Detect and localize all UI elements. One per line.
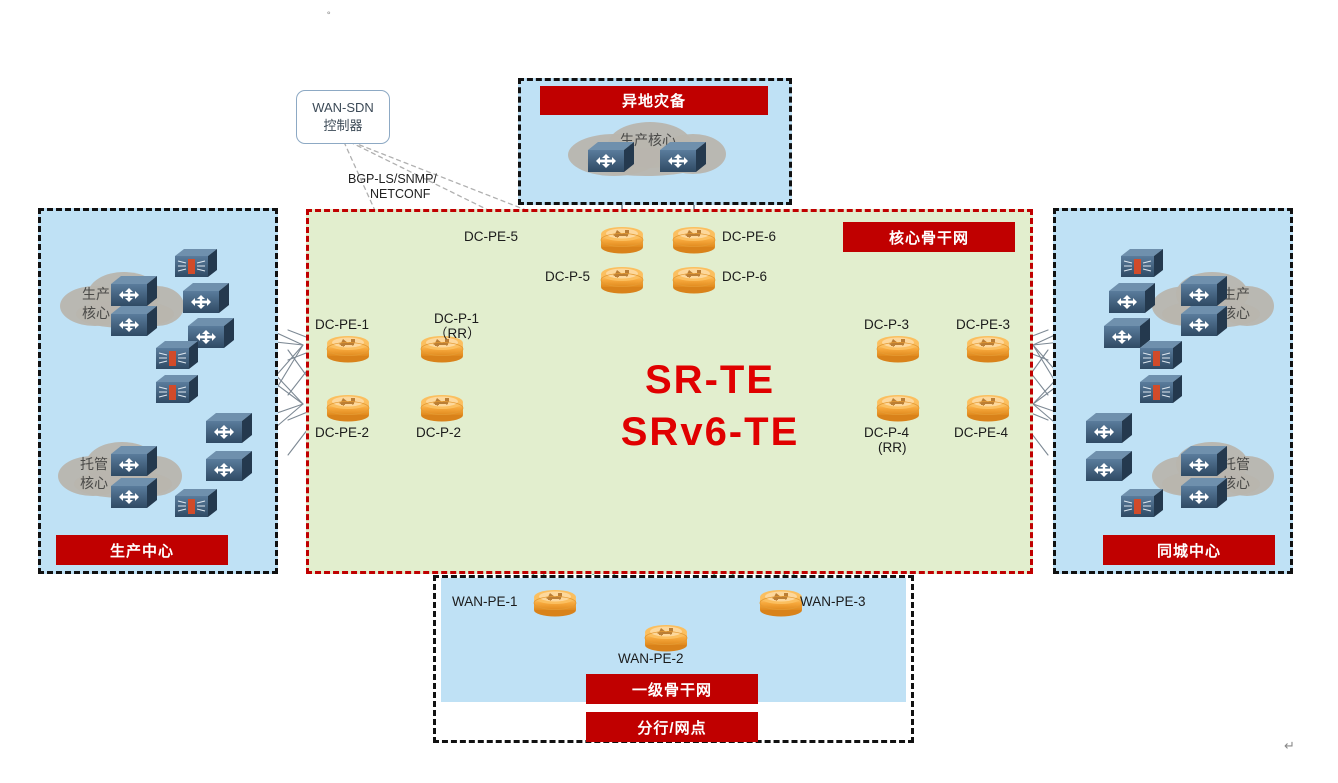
cloud-left-hosting-label-2: 核心 <box>64 475 124 492</box>
banner-right-datacenter: 同城中心 <box>1103 535 1275 565</box>
cloud-right-production-label-2: 核心 <box>1206 305 1266 322</box>
label-dc-p-6: DC-P-6 <box>722 269 767 285</box>
banner-disaster-recovery: 异地灾备 <box>540 86 768 115</box>
label-dc-pe-3: DC-PE-3 <box>956 317 1010 333</box>
label-dc-p-1-rr: （RR） <box>434 326 481 342</box>
label-dc-pe-5: DC-PE-5 <box>464 229 518 245</box>
label-wan-pe-2: WAN-PE-2 <box>618 651 684 667</box>
top-stray-mark: ˚ <box>327 10 331 24</box>
cloud-dr-label: 生产核心 <box>598 132 698 149</box>
cloud-dr-production-core <box>556 122 732 178</box>
banner-tier1-backbone: 一级骨干网 <box>586 674 758 704</box>
label-dc-p-1: DC-P-1 <box>434 311 479 327</box>
network-diagram: 生产核心 生产 核心 托管 核心 生产 核心 托管 核心 <box>0 0 1338 783</box>
label-wan-pe-3: WAN-PE-3 <box>800 594 866 610</box>
wan-sdn-name-cn: 控制器 <box>323 117 362 135</box>
sdn-protocol-line-2: NETCONF <box>370 187 430 203</box>
banner-core-backbone: 核心骨干网 <box>843 222 1015 252</box>
srte-title: SR-TE <box>560 358 860 403</box>
label-dc-p-4-rr: (RR) <box>878 440 907 456</box>
label-dc-pe-2: DC-PE-2 <box>315 425 369 441</box>
cloud-right-production-label-1: 生产 <box>1206 286 1266 303</box>
label-dc-pe-4: DC-PE-4 <box>954 425 1008 441</box>
wan-sdn-controller[interactable]: WAN-SDN 控制器 <box>296 90 390 144</box>
sdn-protocol-line-1: BGP-LS/SNMP/ <box>348 172 437 188</box>
cloud-right-hosting-core <box>1146 442 1276 504</box>
label-wan-pe-1: WAN-PE-1 <box>452 594 518 610</box>
srv6te-title: SRv6-TE <box>560 410 860 455</box>
label-dc-pe-1: DC-PE-1 <box>315 317 369 333</box>
cloud-left-hosting-label-1: 托管 <box>64 456 124 473</box>
label-dc-p-5: DC-P-5 <box>545 269 590 285</box>
cloud-right-hosting-label-1: 托管 <box>1206 456 1266 473</box>
cloud-left-production-label-2: 核心 <box>66 305 126 322</box>
zone-left-datacenter <box>38 208 278 574</box>
label-dc-p-2: DC-P-2 <box>416 425 461 441</box>
cloud-right-production-core <box>1146 272 1276 334</box>
label-dc-p-4: DC-P-4 <box>864 425 909 441</box>
pilcrow-mark: ↵ <box>1284 738 1295 754</box>
cloud-left-hosting-core <box>58 442 188 504</box>
cloud-left-production-label-1: 生产 <box>66 286 126 303</box>
label-dc-p-3: DC-P-3 <box>864 317 909 333</box>
zone-right-datacenter <box>1053 208 1293 574</box>
cloud-left-production-core <box>60 272 190 334</box>
banner-branch-outlet: 分行/网点 <box>586 712 758 742</box>
label-dc-pe-6: DC-PE-6 <box>722 229 776 245</box>
wan-sdn-name-en: WAN-SDN <box>312 99 374 117</box>
banner-left-datacenter: 生产中心 <box>56 535 228 565</box>
cloud-right-hosting-label-2: 核心 <box>1206 475 1266 492</box>
